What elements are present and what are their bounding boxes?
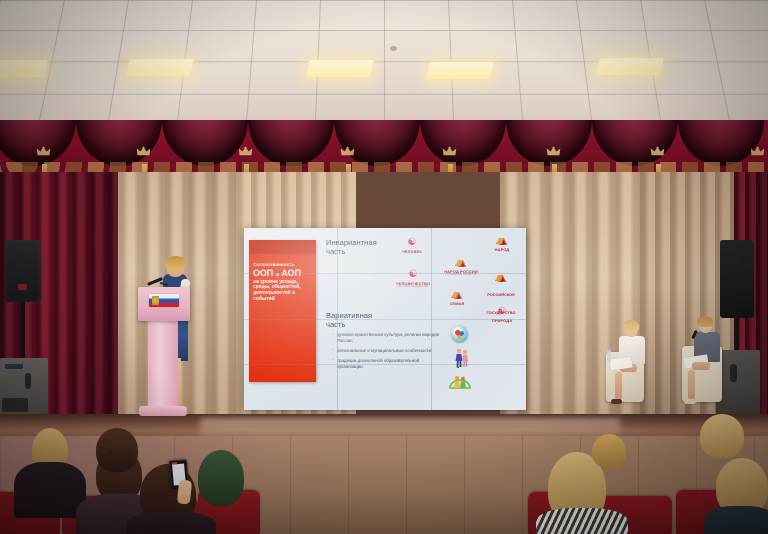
title-block-top-band — [249, 240, 316, 254]
panelist-right-leg — [692, 362, 710, 370]
crown-icon — [750, 145, 765, 158]
audience-shoulders — [704, 506, 768, 534]
water-bottle — [607, 350, 611, 362]
audience-hand — [177, 479, 192, 504]
slide-title-rest: на уровне уклада, среды, общностей, деят… — [253, 280, 312, 302]
ceiling-lamp — [0, 60, 48, 77]
value-caption: НАРОД — [482, 247, 522, 252]
value-caption: СЕМЬЯ — [438, 301, 476, 306]
bullet-item: традиции дошкольной образовательной орга… — [332, 358, 444, 369]
crown-icon — [238, 145, 253, 158]
valance-swag — [76, 120, 162, 166]
audience-head — [96, 428, 138, 472]
valance-swag — [592, 120, 678, 166]
bullet-item: региональные и муниципальные особенности… — [332, 348, 444, 354]
pa-speaker-right — [720, 240, 754, 318]
slide-headline-oop: ООП — [253, 268, 273, 278]
crown-icon — [442, 145, 457, 158]
valance-swag — [0, 120, 76, 166]
subwoofer-right — [716, 350, 760, 418]
icon-globe-people: ☯ — [384, 270, 442, 280]
value-caption: ПРИРОДА — [482, 318, 522, 323]
pa-speaker-left — [5, 240, 41, 302]
panelist-right-shoe — [684, 399, 696, 404]
value-item-chelovek: ☯ ЧЕЛОВЕК — [390, 238, 434, 254]
record-indicator-icon — [172, 462, 177, 464]
crown-icon — [546, 145, 561, 158]
value-caption: ЧЕЛОВЕК — [390, 249, 434, 254]
coat-of-arms-icon — [152, 296, 159, 305]
subwoofer-handle — [730, 364, 737, 382]
audience-shoulders — [126, 512, 216, 534]
audience-head — [198, 450, 244, 506]
value-item-priroda: ☯ ПРИРОДА — [482, 307, 522, 323]
subwoofer-left — [0, 358, 48, 420]
crown-icon — [136, 145, 151, 158]
slide-headline-conj: и — [276, 272, 279, 278]
illustration-badge-icon — [451, 326, 468, 343]
value-subtitle: МИРОВОЕ СООБЩЕСТВО — [384, 286, 442, 288]
ceiling-sensor-icon — [390, 46, 397, 51]
subwoofer-badge — [5, 364, 23, 369]
valance-swag — [334, 120, 420, 166]
ceiling-lamp — [596, 58, 664, 75]
valance-swag — [678, 120, 764, 166]
valance-swag — [506, 120, 592, 166]
ceiling — [0, 0, 768, 128]
stage-valance — [0, 120, 768, 180]
icon-person: ☯ — [390, 238, 434, 248]
ceiling-lamp — [126, 59, 194, 76]
subwoofer-handle — [25, 373, 31, 389]
slide-title-block: Согласованность ООП и АОП на уровне укла… — [249, 240, 316, 382]
icon-state: ⛺ — [476, 273, 526, 283]
icon-people: ⛺ — [430, 258, 492, 268]
icon-crowd: ⛺ — [482, 236, 522, 246]
illustration-children-icon — [454, 348, 470, 373]
auditorium-photo: Согласованность ООП и АОП на уровне укла… — [0, 0, 768, 534]
valance-swag — [420, 120, 506, 166]
value-item-semya: ⛺ СЕМЬЯ — [438, 290, 476, 306]
podium-column — [148, 318, 178, 416]
panelist-right-leg — [688, 370, 695, 400]
section-label-variative: Вариативная часть — [326, 312, 382, 330]
subwoofer-grille — [2, 398, 28, 412]
panelist-left-shoe — [611, 399, 622, 404]
bullet-item: духовно-нравственная культура, религии н… — [332, 332, 444, 343]
crown-icon — [340, 145, 355, 158]
icon-nature: ☯ — [482, 307, 522, 317]
panelist-left-leg — [615, 372, 622, 400]
audience-head — [592, 434, 626, 468]
variative-bullet-list: духовно-нравственная культура, религии н… — [332, 332, 444, 374]
panelist-left-hair — [623, 320, 639, 331]
audience-shoulders — [536, 508, 628, 534]
value-item-chelovechestvo: ☯ ЧЕЛОВЕЧЕСТВО МИРОВОЕ СООБЩЕСТВО — [384, 270, 442, 288]
crown-icon — [36, 145, 51, 158]
podium-base — [139, 406, 187, 416]
audience-head — [700, 414, 744, 458]
panelist-right-hair — [697, 316, 713, 327]
valance-swag — [162, 120, 248, 166]
valance-swag — [248, 120, 334, 166]
illustration-family-icon — [449, 372, 471, 395]
speaker-stand-left — [21, 300, 25, 362]
ceiling-lamp — [426, 62, 494, 79]
icon-family: ⛺ — [438, 290, 476, 300]
ceiling-lamp — [306, 60, 374, 77]
slide-title-line1: Согласованность — [253, 262, 312, 267]
value-item-narod: ⛺ НАРОД — [482, 236, 522, 252]
section-label-invariant: Инвариантная часть — [326, 239, 382, 257]
presentation-screen[interactable]: Согласованность ООП и АОП на уровне укла… — [244, 228, 526, 410]
presenter-hair — [165, 256, 186, 270]
crown-icon — [650, 145, 665, 158]
slide-headline-aop: АОП — [281, 268, 301, 278]
